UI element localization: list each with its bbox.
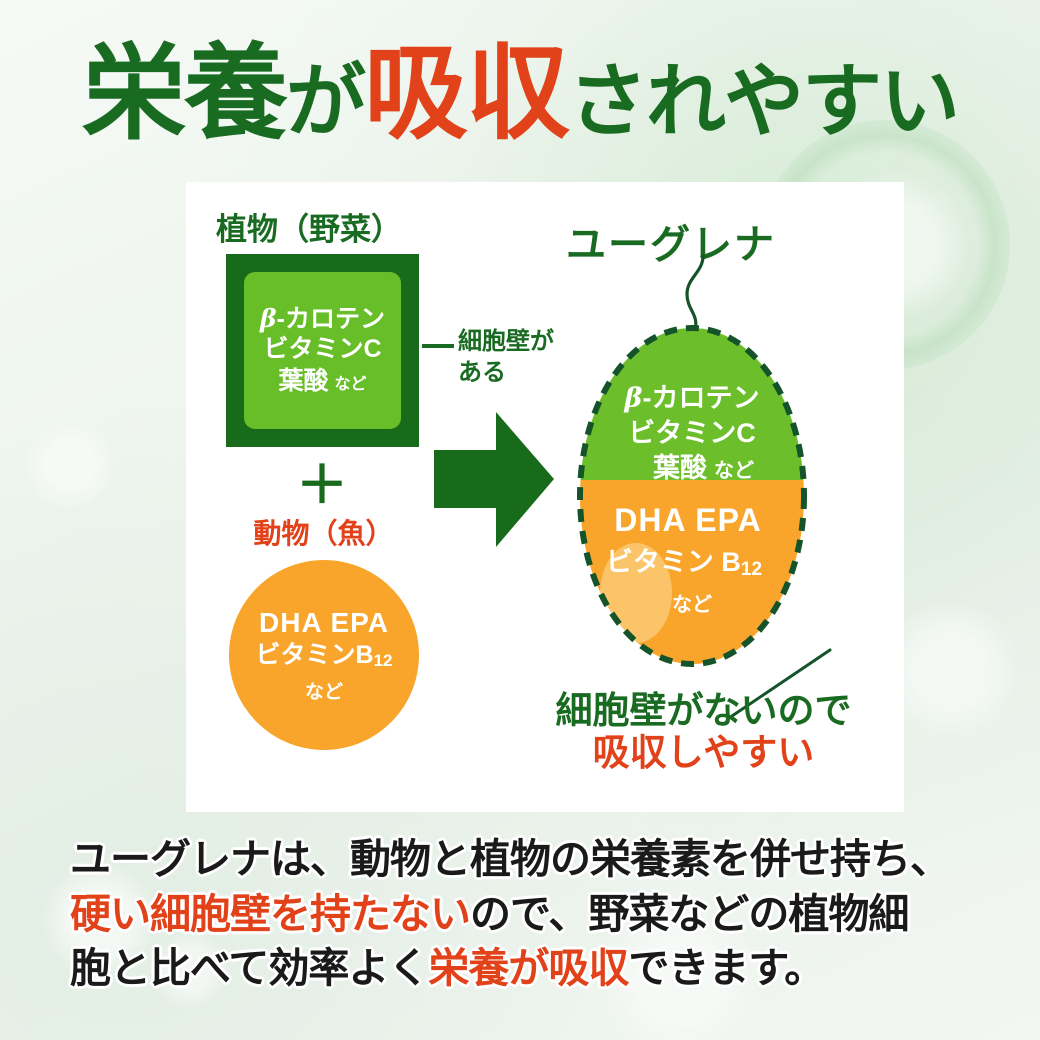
plant-nutrient-carotene-text: -カロテン xyxy=(277,305,385,333)
paragraph-line-2: 硬い細胞壁を持たないので、野菜などの植物細 xyxy=(70,887,970,942)
euglena-caption-line1: 細胞壁がないので xyxy=(506,690,901,732)
plant-nutrient-folate-text: 葉酸 xyxy=(278,367,328,395)
flagellum-icon xyxy=(673,254,713,332)
paragraph-line-2-text: ので、野菜などの植物細 xyxy=(470,891,908,937)
title-part-absorption: 吸収 xyxy=(364,42,568,146)
title-part-easy: されやすい xyxy=(568,62,958,142)
plant-cell-contents: β-カロテン ビタミンC 葉酸など xyxy=(244,272,401,429)
paragraph-line-3: 胞と比べて効率よく栄養が吸収できます。 xyxy=(70,941,970,996)
plant-label: 植物（野菜） xyxy=(216,204,402,249)
page-title: 栄養が吸収されやすい xyxy=(0,42,1040,146)
animal-nutrient-dha-epa: DHA EPA xyxy=(259,606,389,640)
euglena-nutrient-b12: ビタミン B12 xyxy=(606,547,762,580)
plus-symbol: ＋ xyxy=(292,460,352,512)
euglena-beta-symbol: β xyxy=(624,383,643,414)
animal-nutrient-b12: ビタミンB12 xyxy=(256,640,393,671)
infographic-canvas: 栄養が吸収されやすい 植物（野菜） β-カロテン ビタミンC 葉酸など ＋ 動物… xyxy=(0,0,1040,1040)
animal-nutrient-b12-text: ビタミンB xyxy=(256,641,374,669)
euglena-nutrient-dha-epa: DHA EPA xyxy=(614,502,761,538)
cell-wall-note-line1: 細胞壁が xyxy=(458,327,554,358)
plant-cell-box: β-カロテン ビタミンC 葉酸など xyxy=(226,254,419,447)
cell-wall-note-line2: ある xyxy=(458,358,554,389)
euglena-nutrient-carotene: β-カロテン xyxy=(624,383,760,414)
animal-label: 動物（魚） xyxy=(226,512,421,552)
paragraph-highlight-cellwall: 硬い細胞壁を持たない xyxy=(70,891,470,937)
euglena-caption: 細胞壁がないので 吸収しやすい xyxy=(506,690,901,774)
euglena-caption-line2: 吸収しやすい xyxy=(506,732,901,774)
title-part-ga: が xyxy=(286,62,364,142)
cell-wall-leader-line xyxy=(422,344,454,348)
beta-symbol: β xyxy=(260,304,277,333)
euglena-orange-etc-label: など xyxy=(672,593,712,616)
euglena-label: ユーグレナ xyxy=(566,212,776,270)
animal-etc-label: など xyxy=(305,677,343,704)
title-part-nutrition: 栄養 xyxy=(82,42,286,146)
plant-etc-label: など xyxy=(335,376,367,393)
animal-cell-circle: DHA EPA ビタミンB12 など xyxy=(229,560,419,750)
cell-wall-note: 細胞壁が ある xyxy=(458,327,554,388)
plant-nutrient-vitamin-c: ビタミンC xyxy=(263,334,381,365)
right-arrow-icon xyxy=(434,412,554,547)
paragraph-line-1-text: ユーグレナは、動物と植物の栄養素を併せ持ち、 xyxy=(70,836,950,882)
plant-nutrient-folate: 葉酸など xyxy=(278,365,366,398)
plant-nutrient-carotene: β-カロテン xyxy=(260,304,385,335)
paragraph-line-3-text-a: 胞と比べて効率よく xyxy=(70,945,428,991)
background-bokeh-7 xyxy=(25,420,115,510)
euglena-b12-subscript: 12 xyxy=(741,559,762,580)
body-paragraph: ユーグレナは、動物と植物の栄養素を併せ持ち、 硬い細胞壁を持たないので、野菜など… xyxy=(70,832,970,996)
euglena-cell: β-カロテン ビタミンC 葉酸 など DHA EPA ビタミン B12 など xyxy=(576,325,808,667)
euglena-green-etc-label: など xyxy=(714,459,754,482)
animal-nutrient-b12-subscript: 12 xyxy=(374,651,393,670)
paragraph-line-3-text-b: できます。 xyxy=(628,945,824,991)
paragraph-highlight-absorption: 栄養が吸収 xyxy=(428,945,628,991)
euglena-nutrient-folate: 葉酸 xyxy=(652,453,708,483)
euglena-nutrient-vitamin-c: ビタミンC xyxy=(628,418,756,448)
paragraph-line-1: ユーグレナは、動物と植物の栄養素を併せ持ち、 xyxy=(70,832,970,887)
diagram-panel: 植物（野菜） β-カロテン ビタミンC 葉酸など ＋ 動物（魚） DHA EPA… xyxy=(186,182,904,812)
